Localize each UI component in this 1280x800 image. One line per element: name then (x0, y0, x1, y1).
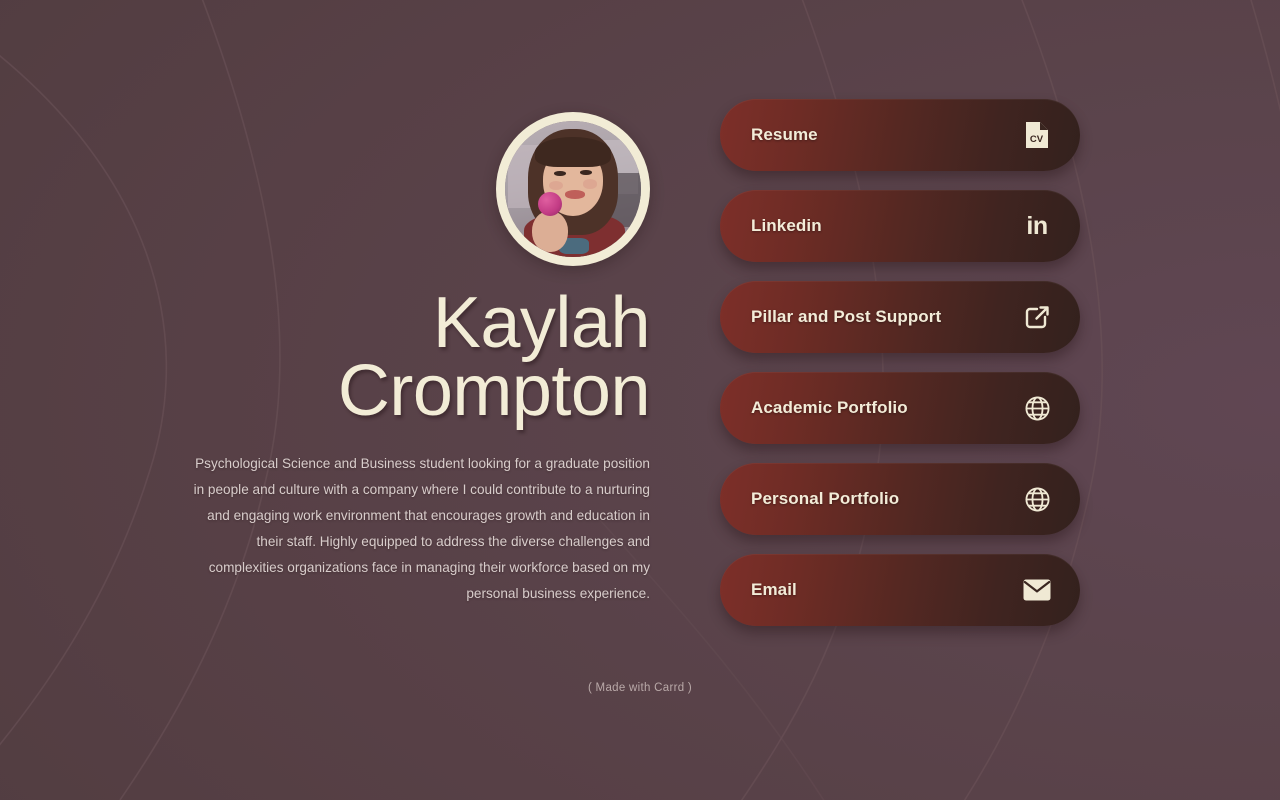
external-link-icon (1022, 302, 1052, 332)
svg-text:CV: CV (1030, 134, 1044, 145)
links-list: Resume CV Linkedin in Pillar and Post Su… (720, 99, 1080, 626)
link-button-email[interactable]: Email (720, 554, 1080, 626)
link-button-resume[interactable]: Resume CV (720, 99, 1080, 171)
link-button-linkedin[interactable]: Linkedin in (720, 190, 1080, 262)
link-button-personal-portfolio[interactable]: Personal Portfolio (720, 463, 1080, 535)
link-label: Academic Portfolio (751, 398, 908, 418)
globe-icon (1022, 393, 1052, 423)
envelope-icon (1022, 575, 1052, 605)
cv-document-icon: CV (1022, 120, 1052, 150)
link-label: Personal Portfolio (751, 489, 899, 509)
link-label: Email (751, 580, 797, 600)
name-line-first: Kaylah (130, 290, 650, 358)
globe-icon (1022, 484, 1052, 514)
made-with-carrd-credit[interactable]: ( Made with Carrd ) (588, 682, 692, 694)
profile-link-page: Kaylah Crompton Psychological Science an… (0, 0, 1280, 800)
link-button-academic-portfolio[interactable]: Academic Portfolio (720, 372, 1080, 444)
bio-text: Psychological Science and Business stude… (190, 451, 650, 607)
link-label: Linkedin (751, 216, 822, 236)
link-button-pillar-and-post-support[interactable]: Pillar and Post Support (720, 281, 1080, 353)
link-label: Pillar and Post Support (751, 307, 941, 327)
link-label: Resume (751, 125, 818, 145)
page-title: Kaylah Crompton (130, 290, 650, 425)
name-line-last: Crompton (130, 358, 650, 426)
footer: ( Made with Carrd ) (0, 678, 1280, 696)
profile-column: Kaylah Crompton Psychological Science an… (130, 112, 650, 607)
linkedin-icon: in (1022, 211, 1052, 241)
avatar (496, 112, 650, 266)
avatar-photo (505, 121, 641, 257)
